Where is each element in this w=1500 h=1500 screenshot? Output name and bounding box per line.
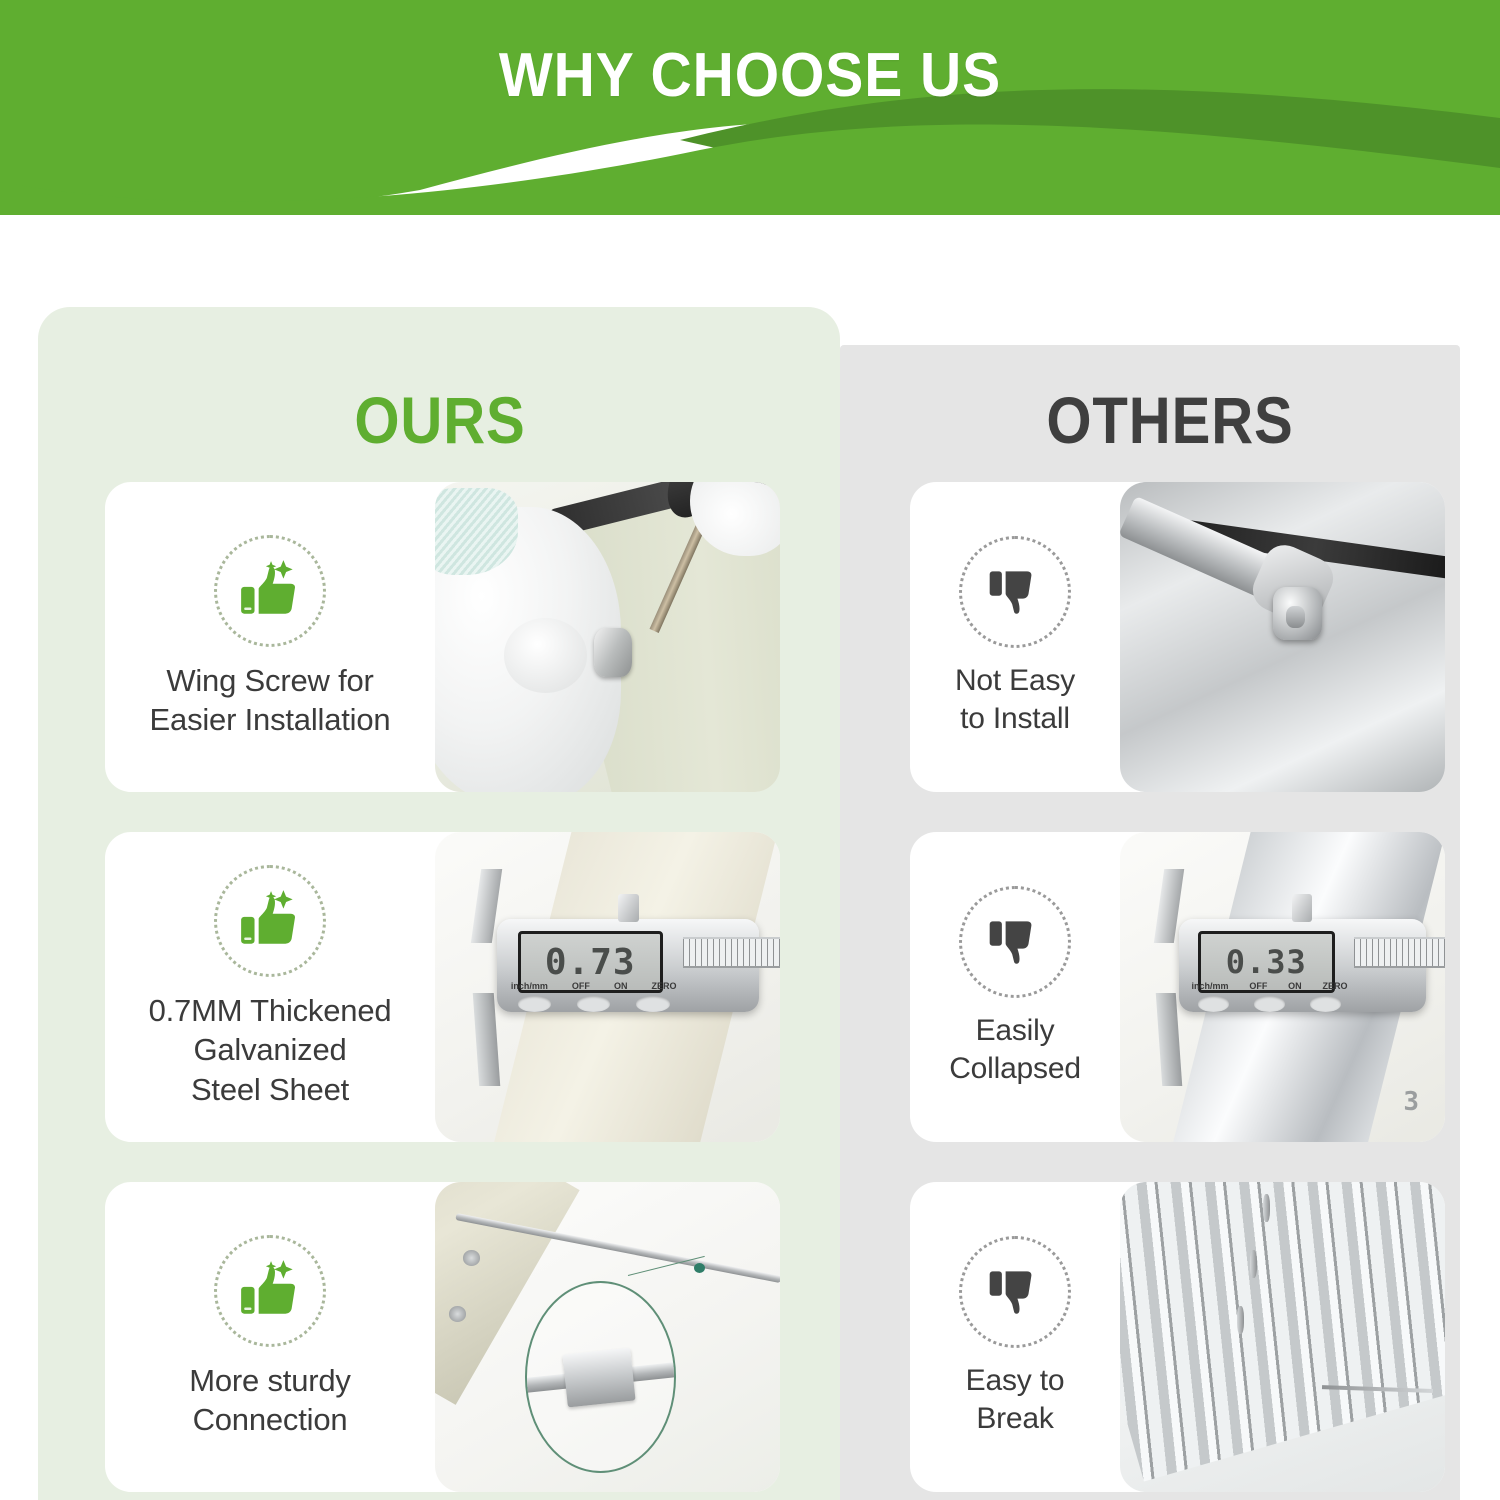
others-card-1: Not Easy to Install <box>910 482 1445 792</box>
ours-card-3-label: More sturdy Connection <box>189 1361 350 1439</box>
caliper-label-inchmm: inch/mm <box>511 981 548 991</box>
caliper-button-labels: inch/mm OFF ON ZERO <box>511 981 677 991</box>
caliper-label-on: ON <box>614 981 628 991</box>
thumbs-up-sparkle-icon <box>214 865 326 977</box>
ours-card-3-photo <box>435 1182 780 1492</box>
ours-card-2-label: 0.7MM Thickened Galvanized Steel Sheet <box>149 991 392 1108</box>
ours-card-2-photo: 0.73 inch/mm OFF ON ZERO <box>435 832 780 1142</box>
ours-card-1: Wing Screw for Easier Installation <box>105 482 780 792</box>
others-card-2-info: Easily Collapsed <box>910 832 1120 1142</box>
others-heading: OTHERS <box>985 382 1355 458</box>
header-banner: WHY CHOOSE US <box>0 0 1500 215</box>
caliper-label-off: OFF <box>572 981 590 991</box>
thumbs-down-icon <box>959 886 1071 998</box>
others-card-1-info: Not Easy to Install <box>910 482 1120 792</box>
caliper-reading: 0.33 <box>1226 943 1307 981</box>
others-card-2: Easily Collapsed 0.33 inch/mm OFF ON ZER… <box>910 832 1445 1142</box>
infographic-page: WHY CHOOSE US OURS OTHERS Wing Screw for… <box>0 0 1500 1500</box>
caliper-label-zero: ZERO <box>651 981 676 991</box>
ours-card-1-info: Wing Screw for Easier Installation <box>105 482 435 792</box>
caliper-reading: 0.73 <box>545 942 636 983</box>
others-card-3-photo <box>1120 1182 1445 1492</box>
others-card-3-label: Easy to Break <box>966 1362 1065 1438</box>
ours-card-1-label: Wing Screw for Easier Installation <box>150 661 391 739</box>
caliper-label-zero: ZERO <box>1322 981 1347 991</box>
others-card-3: Easy to Break <box>910 1182 1445 1492</box>
caliper-button-labels: inch/mm OFF ON ZERO <box>1192 981 1348 991</box>
page-title: WHY CHOOSE US <box>60 40 1440 111</box>
stray-digit: 3 <box>1403 1087 1419 1117</box>
ours-card-1-photo <box>435 482 780 792</box>
others-card-1-photo <box>1120 482 1445 792</box>
caliper-label-inchmm: inch/mm <box>1192 981 1229 991</box>
others-card-2-label: Easily Collapsed <box>949 1012 1081 1088</box>
others-card-2-photo: 0.33 inch/mm OFF ON ZERO 3 <box>1120 832 1445 1142</box>
ours-card-2-info: 0.7MM Thickened Galvanized Steel Sheet <box>105 832 435 1142</box>
thumbs-up-sparkle-icon <box>214 535 326 647</box>
caliper-label-on: ON <box>1288 981 1302 991</box>
ours-card-3: More sturdy Connection <box>105 1182 780 1492</box>
thumbs-down-icon <box>959 536 1071 648</box>
ours-heading: OURS <box>273 382 607 458</box>
ours-card-3-info: More sturdy Connection <box>105 1182 435 1492</box>
ours-card-2: 0.7MM Thickened Galvanized Steel Sheet 0… <box>105 832 780 1142</box>
thumbs-down-icon <box>959 1236 1071 1348</box>
others-card-3-info: Easy to Break <box>910 1182 1120 1492</box>
thumbs-up-sparkle-icon <box>214 1235 326 1347</box>
caliper-label-off: OFF <box>1249 981 1267 991</box>
others-card-1-label: Not Easy to Install <box>955 662 1075 738</box>
